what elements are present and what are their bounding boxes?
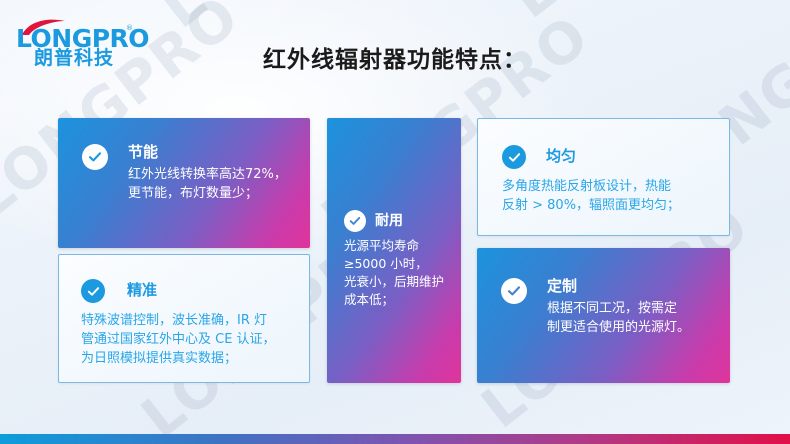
watermark-text: LONGPRO [150,0,442,41]
card-body-text: 多角度热能反射板设计，热能 反射 > 80%，辐照面更均匀； [502,178,680,216]
feature-card-durable[interactable]: 耐用 光源平均寿命 ≥5000 小时， 光衰小，后期维护 成本低； [327,118,461,383]
card-heading: 精准 [127,282,157,299]
card-heading: 节能 [128,144,287,161]
card-body-text: 根据不同工况，按需定 制更适合使用的光源灯。 [547,300,690,338]
check-circle-icon [81,279,105,303]
card-body-text: 特殊波谱控制，波长准确，IR 灯 管通过国家红外中心及 CE 认证， 为日照模拟… [81,312,276,369]
check-circle-icon [502,145,526,169]
feature-card-uniform[interactable]: 均匀 多角度热能反射板设计，热能 反射 > 80%，辐照面更均匀； [477,118,730,236]
check-circle-icon [344,210,366,232]
logo-registered-mark: ® [126,24,133,32]
bottom-accent-bar [0,434,790,444]
card-heading: 均匀 [546,148,576,165]
watermark-text: LONGPRO [500,0,790,31]
slide-canvas: LONGPRO LONGPRO LONGPRO LONGPRO LONGPRO … [0,0,790,444]
feature-card-precise[interactable]: 精准 特殊波谱控制，波长准确，IR 灯 管通过国家红外中心及 CE 认证， 为日… [58,254,310,383]
check-circle-icon [501,278,527,304]
page-title: 红外线辐射器功能特点： [0,40,790,74]
feature-card-energy[interactable]: 节能 红外光线转换率高达72%， 更节能，布灯数量少； [58,118,310,248]
card-heading: 定制 [547,278,690,295]
card-body-text: 红外光线转换率高达72%， 更节能，布灯数量少； [128,166,287,204]
check-circle-icon [82,144,108,170]
feature-card-custom[interactable]: 定制 根据不同工况，按需定 制更适合使用的光源灯。 [477,248,730,383]
card-heading: 耐用 [375,213,403,229]
card-body-text: 光源平均寿命 ≥5000 小时， 光衰小，后期维护 成本低； [344,237,444,310]
